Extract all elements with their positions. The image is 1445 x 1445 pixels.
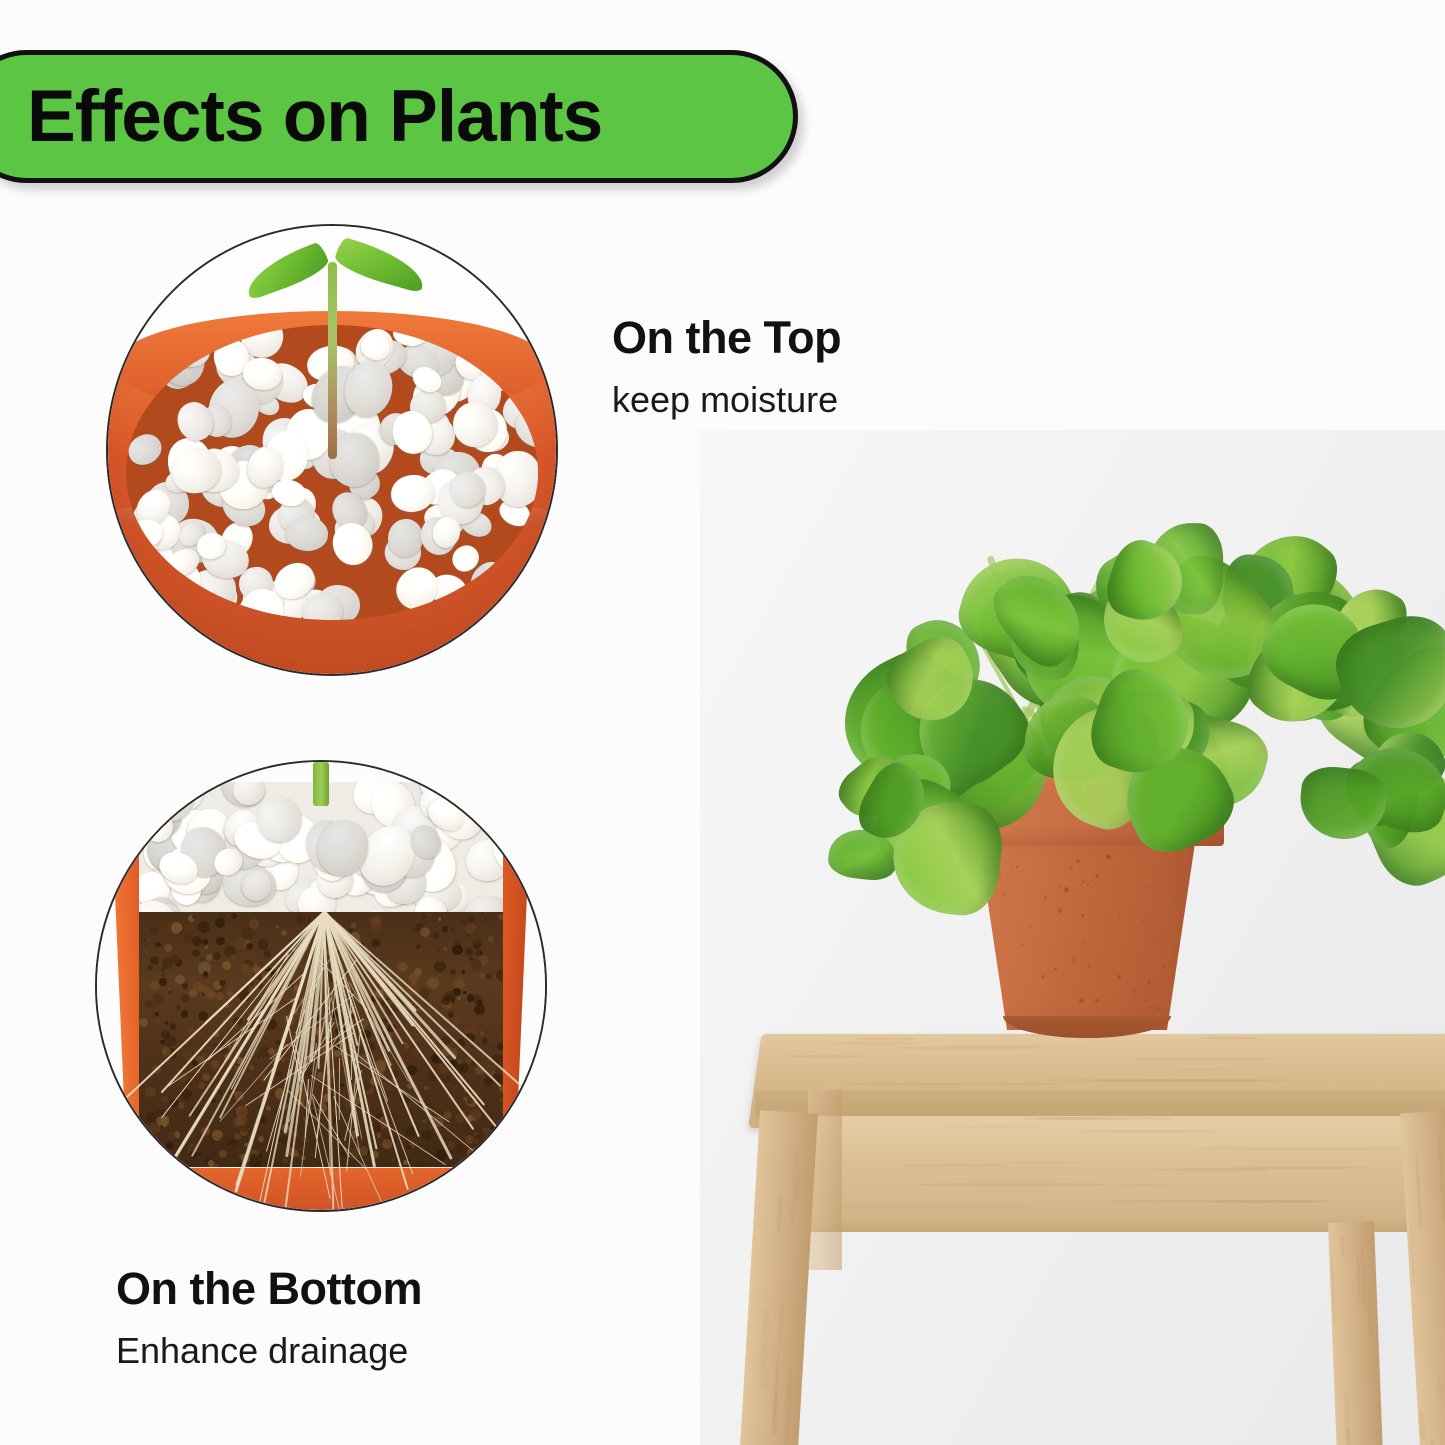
hero-plant-photo	[700, 430, 1445, 1445]
photo-top-dressing-circle	[106, 224, 558, 676]
page-title: Effects on Plants	[0, 80, 602, 153]
stool-apron	[792, 1116, 1432, 1232]
infographic-canvas: Effects on Plants On the Top k	[0, 0, 1445, 1445]
header-banner: Effects on Plants	[0, 50, 798, 183]
callout-title: On the Top	[612, 314, 841, 362]
stool-seat-edge	[755, 1090, 1445, 1118]
callout-subtitle: keep moisture	[612, 380, 841, 420]
philodendron-foliage	[700, 430, 1445, 860]
callout-on-the-bottom: On the Bottom Enhance drainage	[116, 1265, 422, 1370]
plant-stem	[313, 762, 329, 806]
callout-subtitle: Enhance drainage	[116, 1331, 422, 1371]
seedling-stem	[328, 262, 337, 459]
photo-cross-section-circle	[95, 760, 547, 1212]
callout-title: On the Bottom	[116, 1265, 422, 1313]
callout-on-the-top: On the Top keep moisture	[612, 314, 841, 419]
